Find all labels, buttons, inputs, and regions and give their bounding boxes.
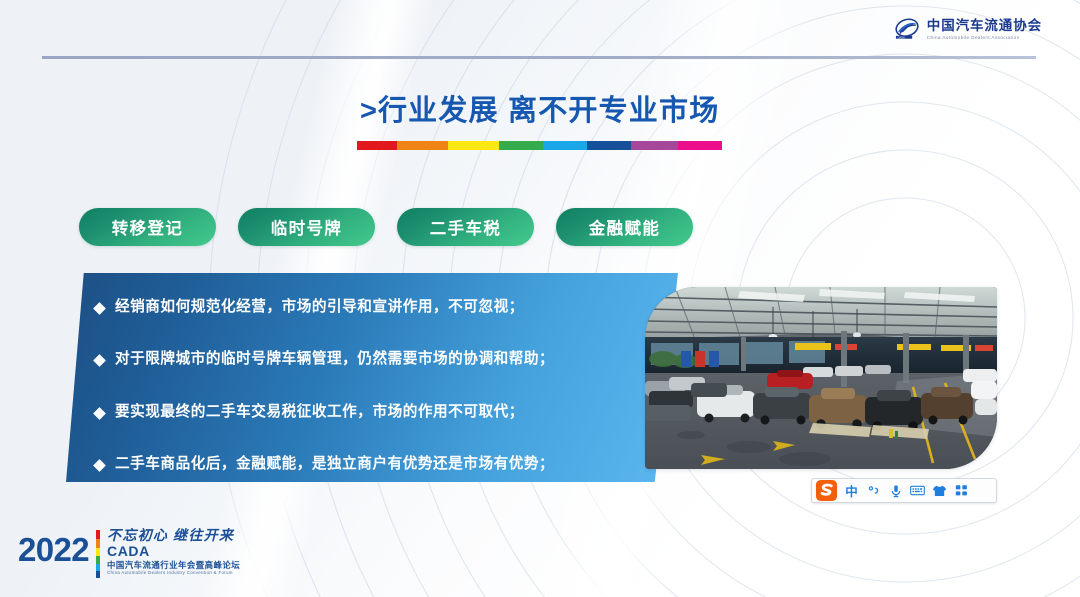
bullet-text: 要实现最终的二手车交易税征收工作，市场的作用不可取代； [115,403,524,421]
underline-segment-orange [397,141,448,150]
underline-segment-light-blue [543,141,587,150]
toolbox-button[interactable] [951,480,972,501]
diamond-bullet-icon [93,354,106,367]
category-pill-label: 临时号牌 [271,215,343,239]
underline-segment-dark-blue [587,141,631,150]
category-pill-3[interactable]: 二手车税 [397,208,534,246]
underline-segment-red [357,141,397,150]
event-acronym: CADA [107,544,240,558]
title-block: >行业发展 离不开专业市场 [360,93,722,150]
bullet-list: 经销商如何规范化经营，市场的引导和宣讲作用，不可忽视；对于限牌城市的临时号牌车辆… [95,298,615,473]
underline-segment-yellow [448,141,499,150]
organization-logo: CADA 中国汽车流通协会 China Automobile Dealers A… [894,16,1042,42]
microphone-icon [889,484,903,498]
bullet-text: 二手车商品化后，金融赋能，是独立商户有优势还是市场有优势； [115,455,554,473]
event-year: 2022 [18,533,89,566]
organization-name-cn: 中国汽车流通协会 [927,18,1042,34]
event-logo: 2022 不忘初心 继往开来 CADA 中国汽车流通行业年会暨高峰论坛 Chin… [18,530,240,578]
underline-segment-purple [631,141,678,150]
event-name-en: China Automobile Dealers Industry Conven… [107,571,240,576]
underline-segment-green [499,141,543,150]
event-logo-color-bar [96,530,100,578]
chinese-char-zhong-icon: 中 [845,481,858,500]
sogou-s-logo-icon[interactable] [815,479,838,502]
organization-name-en: China Automobile Dealers Association [927,35,1042,40]
bullet-text: 经销商如何规范化经营，市场的引导和宣讲作用，不可忽视； [115,298,524,316]
soft-keyboard-button[interactable] [907,480,928,501]
cada-swoosh-logo-icon: CADA [894,16,920,42]
category-pill-1[interactable]: 转移登记 [79,208,216,246]
punctuation-icon [867,484,881,498]
language-mode-button[interactable]: 中 [841,480,862,501]
title-chevron: > [360,95,377,127]
category-pill-label: 二手车税 [430,215,502,239]
header-divider-line [42,56,1036,59]
category-pill-label: 金融赋能 [589,215,661,239]
title-text: 行业发展 离不开专业市场 [378,95,719,127]
category-pill-2[interactable]: 临时号牌 [238,208,375,246]
diamond-bullet-icon [93,407,106,420]
underline-segment-magenta [678,141,722,150]
category-pill-label: 转移登记 [112,215,184,239]
bullet-item-3: 要实现最终的二手车交易税征收工作，市场的作用不可取代； [95,403,615,421]
bullet-item-4: 二手车商品化后，金融赋能，是独立商户有优势还是市场有优势； [95,455,615,473]
skin-button[interactable] [929,480,950,501]
title-rainbow-underline [357,141,722,150]
category-pill-4[interactable]: 金融赋能 [556,208,693,246]
bullet-item-1: 经销商如何规范化经营，市场的引导和宣讲作用，不可忽视； [95,298,615,316]
voice-input-button[interactable] [885,480,906,501]
page-title: >行业发展 离不开专业市场 [360,93,722,129]
category-pill-row: 转移登记临时号牌二手车税金融赋能 [79,208,693,246]
diamond-bullet-icon [93,459,106,472]
slide-canvas: CADA 中国汽车流通协会 China Automobile Dealers A… [0,0,1080,597]
keyboard-icon [910,484,925,497]
tshirt-icon [932,484,947,498]
photo-illustration [645,287,997,469]
svg-text:CADA: CADA [897,35,904,39]
event-name-cn: 中国汽车流通行业年会暨高峰论坛 [107,561,240,570]
bullet-item-2: 对于限牌城市的临时号牌车辆管理，仍然需要市场的协调和帮助； [95,350,615,368]
used-car-market-indoor-photo [645,287,997,469]
diamond-bullet-icon [93,302,106,315]
bullet-text: 对于限牌城市的临时号牌车辆管理，仍然需要市场的协调和帮助； [115,350,554,368]
four-squares-icon [955,484,968,497]
sogou-ime-toolbar[interactable]: 中 [811,478,997,503]
punctuation-button[interactable] [863,480,884,501]
